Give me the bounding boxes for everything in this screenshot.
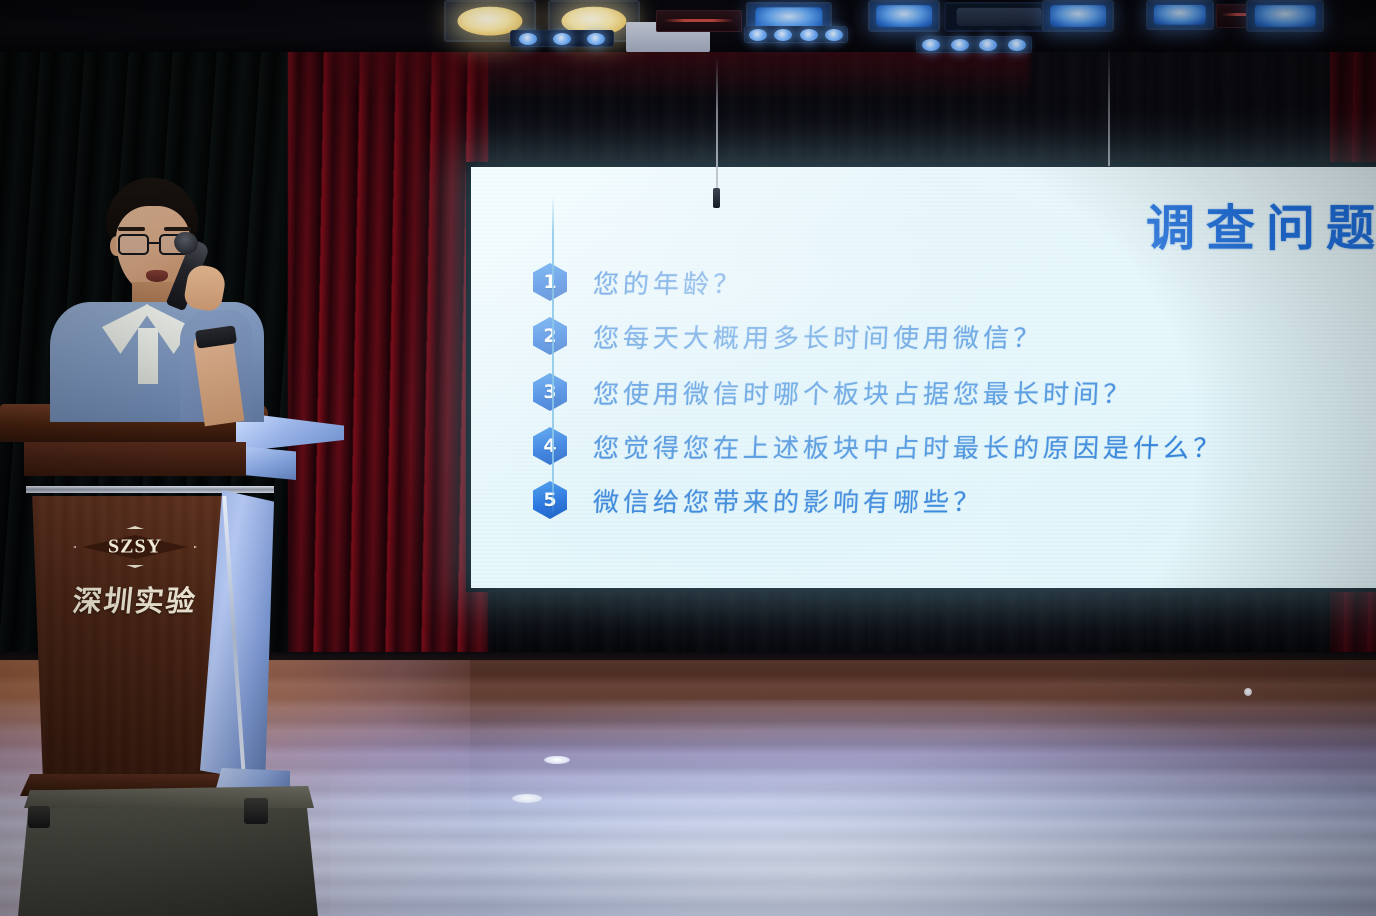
podium-metal-trim xyxy=(26,486,274,493)
lighting-truss xyxy=(0,0,1376,52)
blue-par-bar-3 xyxy=(916,36,1032,53)
floor-reflection-highlight xyxy=(544,756,570,764)
podium-neck xyxy=(24,442,246,476)
school-name-text: 深圳实验 xyxy=(50,578,220,620)
speaker-shirt-placket xyxy=(138,328,158,384)
szsy-diamond-icon: SZSY xyxy=(73,526,197,568)
hanging-microphone-cable xyxy=(716,60,718,190)
stage-monitor-foot xyxy=(244,798,268,824)
speaker-person xyxy=(28,178,268,418)
blue-wash-5-icon xyxy=(1246,0,1324,32)
question-number-badge: 2 xyxy=(533,317,567,355)
stage-monitor-speaker xyxy=(18,790,318,916)
school-logo-block: SZSY 深圳实验 xyxy=(52,526,218,620)
szsy-logo-text: SZSY xyxy=(73,536,197,559)
question-text: 您每天大概用多长时间使用微信？ xyxy=(592,318,1044,355)
stage-presentation-photo: 调查问题 1 您的年龄？ 2 您每天大概用多长时间使用微信？ 3 您使用微信时哪… xyxy=(0,0,1376,916)
blue-wash-4-icon xyxy=(1146,0,1214,30)
floor-blue-light-pool xyxy=(330,700,1376,916)
dim-fixture-1 xyxy=(944,2,1054,32)
blue-wash-3-icon xyxy=(1042,0,1114,32)
stage-monitor-foot xyxy=(28,806,50,828)
survey-question-item: 5 微信给您带来的影响有哪些？ xyxy=(533,477,983,523)
speaker-eyebrow-right xyxy=(164,227,191,231)
question-timeline-spine xyxy=(552,196,554,516)
red-strip-light-1 xyxy=(656,10,742,32)
speaker-eyebrow-left xyxy=(118,227,145,231)
question-number-badge: 4 xyxy=(533,427,567,465)
floor-reflection-highlight xyxy=(512,794,542,803)
survey-question-item: 4 您觉得您在上述板块中占时最长的原因是什么？ xyxy=(533,423,1223,469)
hanging-microphone-cable-2 xyxy=(1108,48,1110,166)
question-text: 您的年龄？ xyxy=(592,264,744,301)
survey-question-item: 3 您使用微信时哪个板块占据您最长时间？ xyxy=(533,369,1133,415)
survey-question-list: 1 您的年龄？ 2 您每天大概用多长时间使用微信？ 3 您使用微信时哪个板块占据… xyxy=(471,167,1376,588)
question-number-badge: 3 xyxy=(533,373,567,411)
floor-reflection-highlight xyxy=(1244,688,1252,696)
question-number-badge: 5 xyxy=(533,481,567,519)
question-number-badge: 1 xyxy=(533,263,567,301)
survey-question-item: 2 您每天大概用多长时间使用微信？ xyxy=(533,313,1043,359)
blue-par-bar-1 xyxy=(510,30,614,47)
question-text: 您使用微信时哪个板块占据您最长时间？ xyxy=(592,374,1134,411)
speaker-mouth xyxy=(146,270,168,282)
blue-wash-2-icon xyxy=(868,0,940,32)
question-text: 微信给您带来的影响有哪些？ xyxy=(592,482,984,519)
podium: SZSY 深圳实验 xyxy=(0,398,350,828)
blue-par-bar-2 xyxy=(744,26,848,43)
hanging-microphone-capsule-icon xyxy=(713,188,720,208)
question-text: 您觉得您在上述板块中占时最长的原因是什么？ xyxy=(592,428,1224,465)
survey-question-item: 1 您的年龄？ xyxy=(533,259,743,305)
podium-side-lit-panel xyxy=(238,446,296,480)
projection-screen: 调查问题 1 您的年龄？ 2 您每天大概用多长时间使用微信？ 3 您使用微信时哪… xyxy=(471,167,1376,588)
